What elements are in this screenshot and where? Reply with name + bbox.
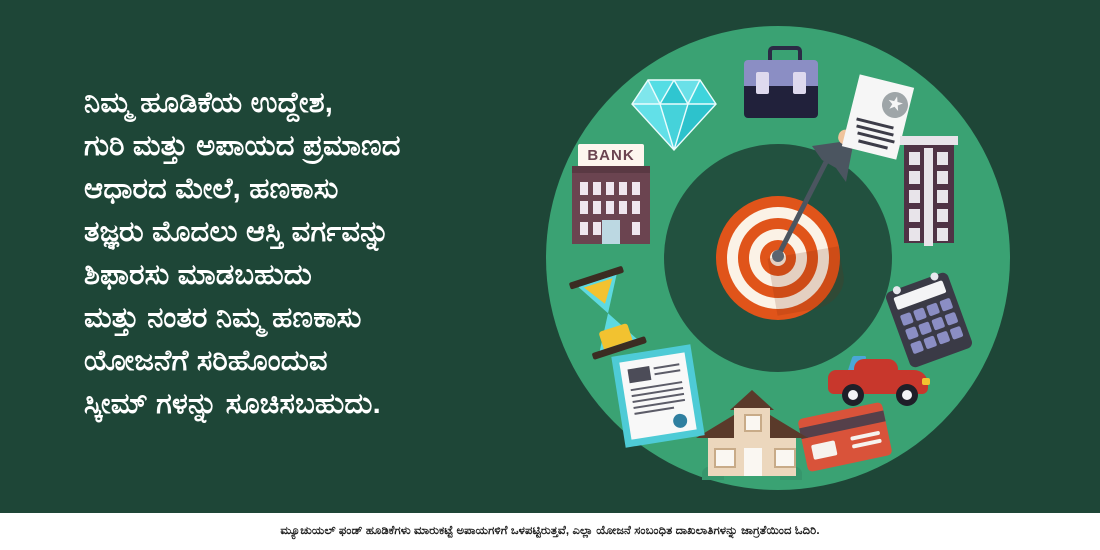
contract-icon bbox=[618, 350, 702, 446]
briefcase-icon bbox=[744, 46, 818, 120]
message-line: ಯೋಜನೆಗೆ ಸರಿಹೊಂದುವ bbox=[84, 340, 554, 383]
circular-infographic: ★ BANK bbox=[538, 18, 1018, 498]
message-line: ಶಿಫಾರಸು ಮಾಡಬಹುದು bbox=[84, 254, 554, 297]
infographic-slide: ನಿಮ್ಮ ಹೂಡಿಕೆಯ ಉದ್ದೇಶ, ಗುರಿ ಮತ್ತು ಅಪಾಯದ ಪ… bbox=[0, 0, 1100, 550]
message-line: ಸ್ಕೀಮ್ ಗಳನ್ನು ಸೂಚಿಸಬಹುದು. bbox=[84, 383, 554, 426]
disclaimer-bar: ಮ್ಯೂಚುಯಲ್ ಫಂಡ್ ಹೂಡಿಕೆಗಳು ಮಾರುಕಟ್ಟೆ ಅಪಾಯಗ… bbox=[0, 513, 1100, 550]
disclaimer-text: ಮ್ಯೂಚುಯಲ್ ಫಂಡ್ ಹೂಡಿಕೆಗಳು ಮಾರುಕಟ್ಟೆ ಅಪಾಯಗ… bbox=[280, 525, 819, 538]
message-block: ನಿಮ್ಮ ಹೂಡಿಕೆಯ ಉದ್ದೇಶ, ಗುರಿ ಮತ್ತು ಅಪಾಯದ ಪ… bbox=[84, 82, 554, 426]
tower-building-icon bbox=[900, 136, 958, 246]
bank-sign-label: BANK bbox=[578, 144, 644, 167]
message-line: ಮತ್ತು ನಂತರ ನಿಮ್ಮ ಹಣಕಾಸು bbox=[84, 297, 554, 340]
message-line: ಆಧಾರದ ಮೇಲೆ, ಹಣಕಾಸು bbox=[84, 168, 554, 211]
message-line: ಗುರಿ ಮತ್ತು ಅಪಾಯದ ಪ್ರಮಾಣದ bbox=[84, 125, 554, 168]
message-line: ತಜ್ಞರು ಮೊದಲು ಆಸ್ತಿ ವರ್ಗವನ್ನು bbox=[84, 211, 554, 254]
car-icon bbox=[828, 354, 932, 410]
house-icon bbox=[696, 386, 808, 478]
credit-card-icon bbox=[802, 410, 892, 470]
diamond-icon bbox=[630, 76, 718, 154]
message-line: ನಿಮ್ಮ ಹೂಡಿಕೆಯ ಉದ್ದೇಶ, bbox=[84, 82, 554, 125]
bank-building-icon: BANK bbox=[572, 144, 650, 244]
